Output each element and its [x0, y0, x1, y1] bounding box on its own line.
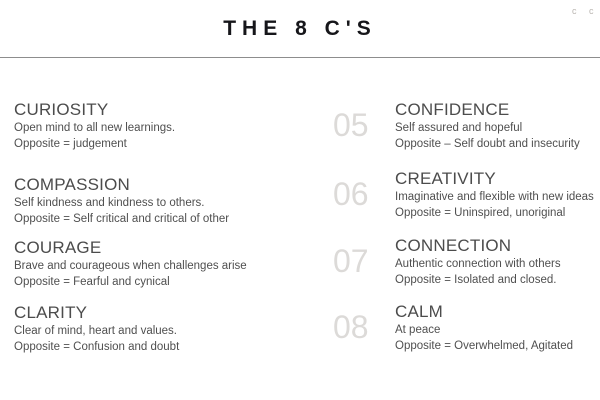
entry-number: 01: [0, 100, 14, 141]
entry-number: 07: [333, 236, 395, 277]
entry-description: At peace: [395, 322, 600, 339]
entry-body: CLARITY Clear of mind, heart and values.…: [14, 303, 282, 356]
list-item-clarity: 04 CLARITY Clear of mind, heart and valu…: [0, 303, 282, 356]
page-header: THE 8 C'S c c: [0, 0, 600, 58]
entry-opposite: Opposite = Uninspired, unoriginal: [395, 205, 600, 222]
list-item-connection: 07 CONNECTION Authentic connection with …: [333, 236, 600, 289]
entry-description: Clear of mind, heart and values.: [14, 323, 282, 340]
content-columns: 01 CURIOSITY Open mind to all new learni…: [0, 58, 600, 400]
entry-opposite: Opposite = judgement: [14, 136, 282, 153]
entry-number: 05: [333, 100, 395, 141]
entry-body: COURAGE Brave and courageous when challe…: [14, 238, 282, 291]
entry-heading: CURIOSITY: [14, 100, 282, 120]
entry-body: CONNECTION Authentic connection with oth…: [395, 236, 600, 289]
list-item-calm: 08 CALM At peace Opposite = Overwhelmed,…: [333, 302, 600, 355]
corner-watermark-text: c c: [572, 6, 599, 16]
list-item-courage: 03 COURAGE Brave and courageous when cha…: [0, 238, 282, 291]
page-title: THE 8 C'S: [0, 17, 600, 41]
entry-opposite: Opposite = Isolated and closed.: [395, 272, 600, 289]
entry-body: CURIOSITY Open mind to all new learnings…: [14, 100, 282, 153]
entry-heading: CONNECTION: [395, 236, 600, 256]
entry-number: 06: [333, 169, 395, 210]
entry-number: 08: [333, 302, 395, 343]
entry-opposite: Opposite = Fearful and cynical: [14, 274, 282, 291]
entry-body: CREATIVITY Imaginative and flexible with…: [395, 169, 600, 222]
entry-opposite: Opposite = Overwhelmed, Agitated: [395, 338, 600, 355]
entry-opposite: Opposite = Self critical and critical of…: [14, 211, 282, 228]
entry-body: COMPASSION Self kindness and kindness to…: [14, 175, 282, 228]
entry-heading: CLARITY: [14, 303, 282, 323]
entry-description: Imaginative and flexible with new ideas: [395, 189, 600, 206]
entry-description: Self assured and hopeful: [395, 120, 600, 137]
list-item-confidence: 05 CONFIDENCE Self assured and hopeful O…: [333, 100, 600, 153]
entry-heading: COURAGE: [14, 238, 282, 258]
entry-description: Self kindness and kindness to others.: [14, 195, 282, 212]
entry-heading: CREATIVITY: [395, 169, 600, 189]
list-item-curiosity: 01 CURIOSITY Open mind to all new learni…: [0, 100, 282, 153]
list-item-compassion: 02 COMPASSION Self kindness and kindness…: [0, 175, 282, 228]
entry-body: CONFIDENCE Self assured and hopeful Oppo…: [395, 100, 600, 153]
entry-number: 02: [0, 175, 14, 216]
entry-opposite: Opposite = Confusion and doubt: [14, 339, 282, 356]
entry-heading: CONFIDENCE: [395, 100, 600, 120]
entry-number: 04: [0, 303, 14, 344]
entry-opposite: Opposite – Self doubt and insecurity: [395, 136, 600, 153]
entry-description: Authentic connection with others: [395, 256, 600, 273]
entry-body: CALM At peace Opposite = Overwhelmed, Ag…: [395, 302, 600, 355]
list-item-creativity: 06 CREATIVITY Imaginative and flexible w…: [333, 169, 600, 222]
right-column: 05 CONFIDENCE Self assured and hopeful O…: [333, 58, 600, 400]
entry-number: 03: [0, 238, 14, 279]
entry-heading: COMPASSION: [14, 175, 282, 195]
entry-description: Open mind to all new learnings.: [14, 120, 282, 137]
left-column: 01 CURIOSITY Open mind to all new learni…: [0, 58, 282, 400]
entry-description: Brave and courageous when challenges ari…: [14, 258, 282, 275]
entry-heading: CALM: [395, 302, 600, 322]
